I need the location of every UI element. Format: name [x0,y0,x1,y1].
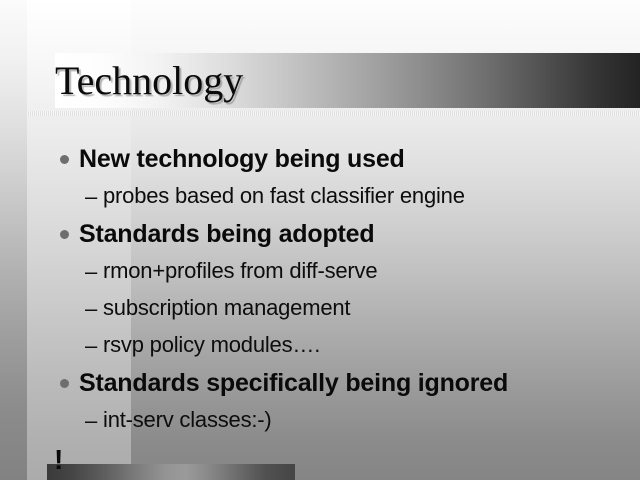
footer-gradient-bar [47,464,295,480]
list-item: – int-serv classes:-) [56,405,640,442]
background-hatch-divider [27,111,640,116]
list-item: – rmon+profiles from diff-serve [56,256,640,293]
background-left-strip [0,0,27,480]
bullet-dash-icon: – [85,295,103,323]
page-title: Technology [55,58,555,104]
list-item: – rsvp policy modules…. [56,330,640,367]
list-item: – probes based on fast classifier engine [56,181,640,218]
list-item-label: New technology being used [79,143,405,175]
exclamation-icon: ! [54,446,63,474]
list-item-label: probes based on fast classifier engine [103,181,465,211]
list-item: Standards specifically being ignored [56,367,640,405]
bullet-dash-icon: – [85,258,103,286]
list-item-label: subscription management [103,293,350,323]
bullet-dash-icon: – [85,183,103,211]
bullet-dash-icon: – [85,407,103,435]
list-item-label: Standards specifically being ignored [79,367,508,399]
bullet-list: New technology being used – probes based… [56,143,640,442]
list-item-label: rmon+profiles from diff-serve [103,256,377,286]
list-item-label: rsvp policy modules…. [103,330,320,360]
bullet-dot-icon [60,155,69,164]
list-item: Standards being adopted [56,218,640,256]
list-item-label: Standards being adopted [79,218,374,250]
list-item: New technology being used [56,143,640,181]
bullet-dot-icon [60,379,69,388]
bullet-dot-icon [60,230,69,239]
bullet-dash-icon: – [85,332,103,360]
presentation-slide: Technology New technology being used – p… [0,0,640,480]
list-item-label: int-serv classes:-) [103,405,272,435]
list-item: – subscription management [56,293,640,330]
